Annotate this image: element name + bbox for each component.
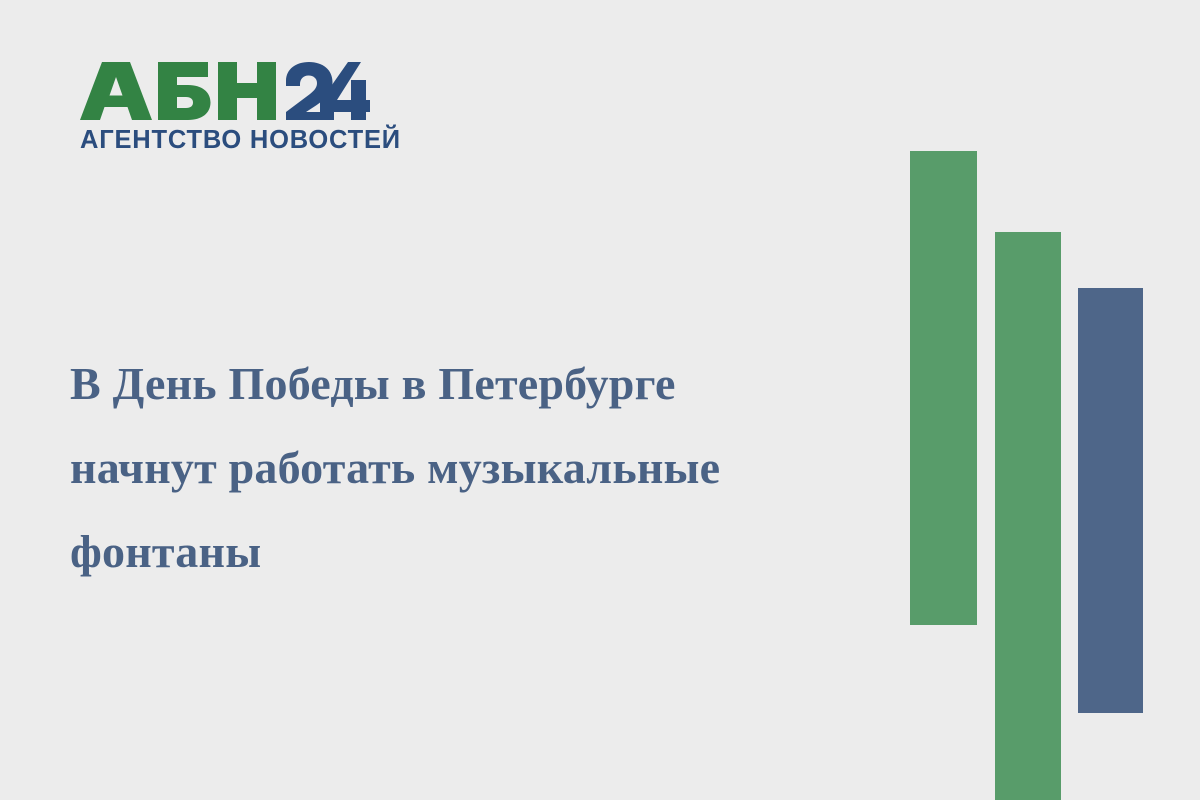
headline-line-2: начнут работать музыкальные bbox=[70, 426, 870, 510]
bar-1 bbox=[910, 151, 977, 625]
news-card: АГЕНТСТВО НОВОСТЕЙ В День Победы в Петер… bbox=[0, 0, 1200, 800]
logo-wordmark bbox=[80, 62, 370, 120]
logo-tagline: АГЕНТСТВО НОВОСТЕЙ bbox=[80, 126, 370, 155]
headline-line-1: В День Победы в Петербурге bbox=[70, 342, 870, 426]
bar-2 bbox=[995, 232, 1061, 800]
bar-3 bbox=[1078, 288, 1143, 713]
page-title: В День Победы в Петербурге начнут работа… bbox=[70, 342, 870, 594]
abn24-logo[interactable]: АГЕНТСТВО НОВОСТЕЙ bbox=[80, 62, 370, 155]
headline-line-3: фонтаны bbox=[70, 510, 870, 594]
